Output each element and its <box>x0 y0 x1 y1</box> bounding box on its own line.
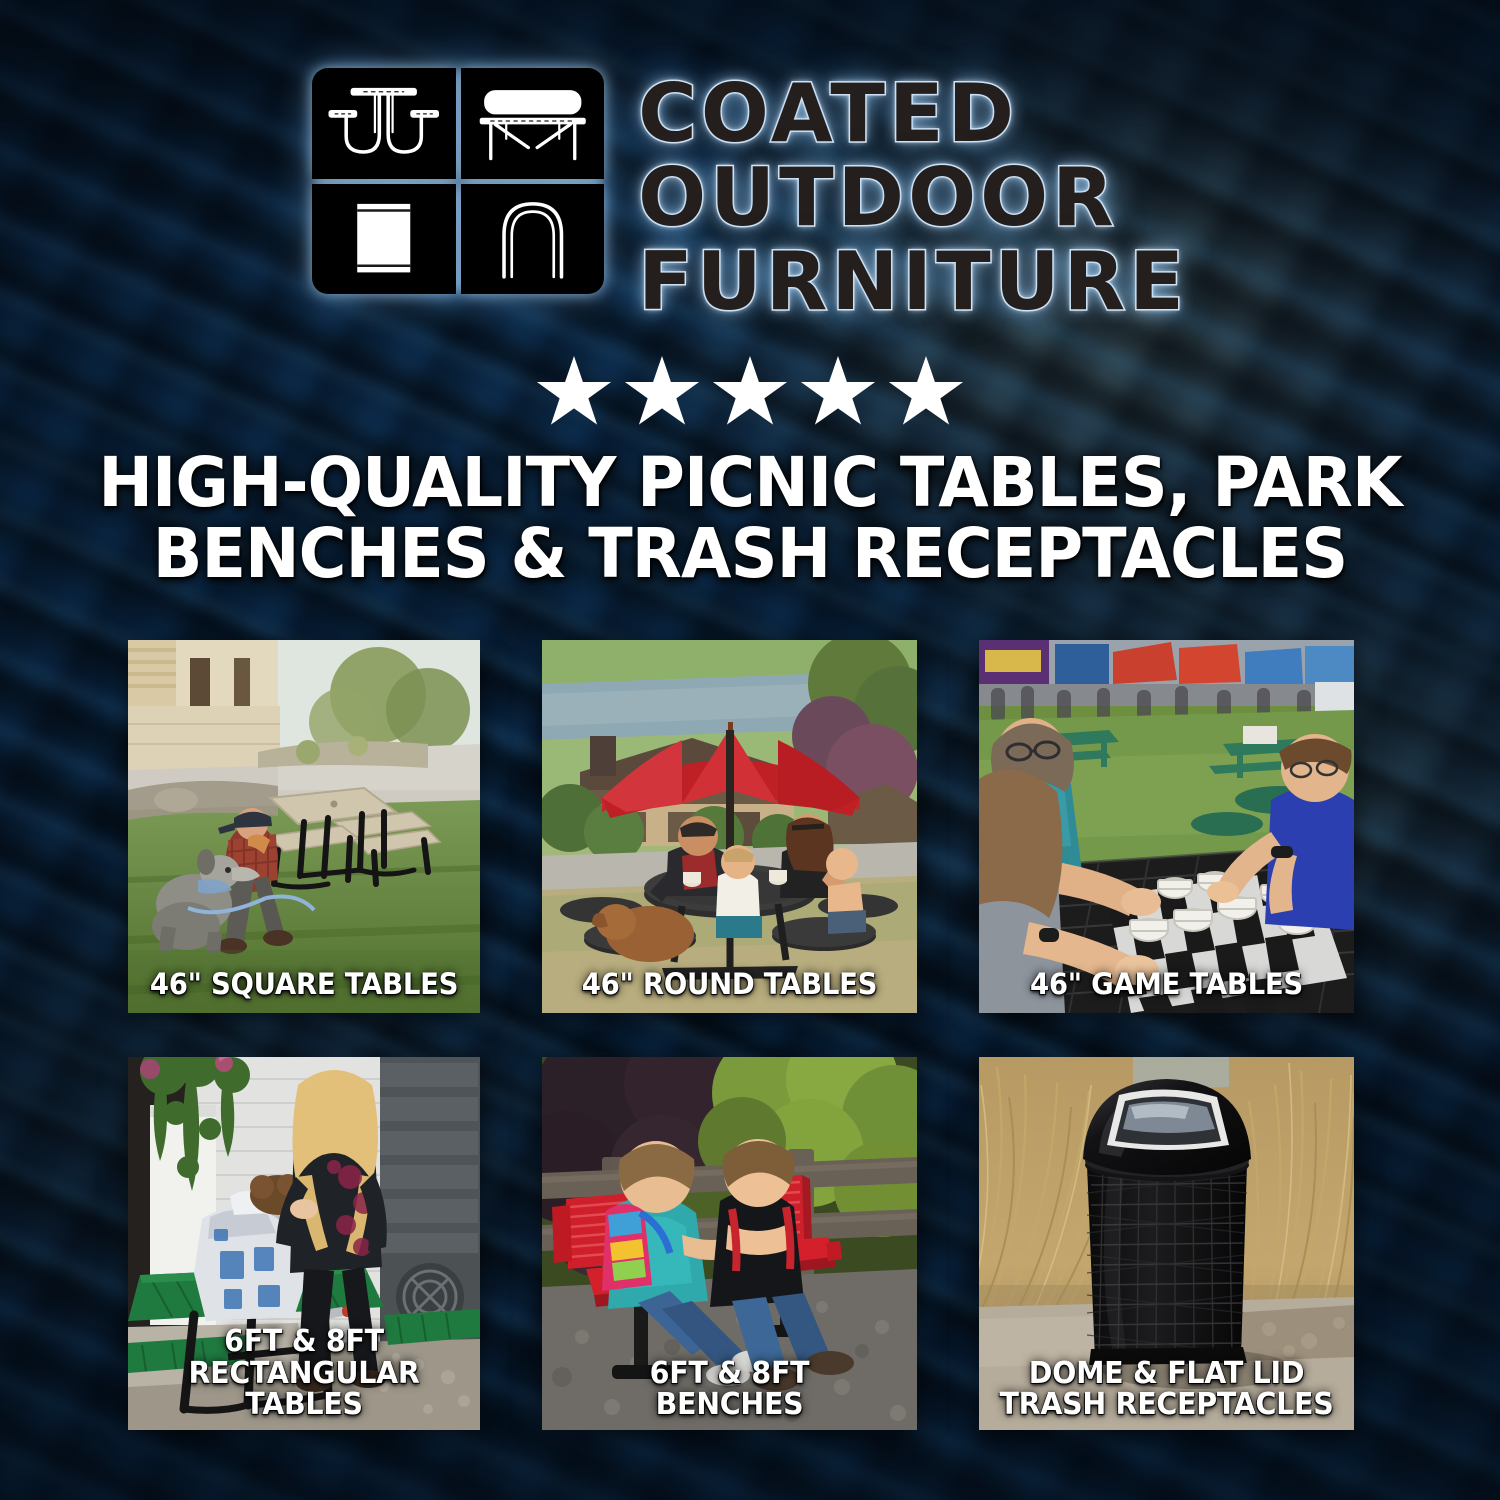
star-icon <box>888 356 964 430</box>
product-tile-label: 6FT & 8FT RECTANGULAR TABLES <box>137 1326 471 1420</box>
brand-word-2: OUTDOOR <box>638 158 1188 237</box>
brand-logo: COATED OUTDOOR FURNITURE <box>0 68 1500 327</box>
product-tile-round-tables[interactable]: 46" ROUND TABLES <box>542 640 917 1013</box>
square-tables-photo <box>128 640 480 1013</box>
brand-wordmark: COATED OUTDOOR FURNITURE <box>638 68 1188 327</box>
park-bench-icon <box>461 68 605 179</box>
product-tile-square-tables[interactable]: 46" SQUARE TABLES <box>128 640 480 1013</box>
game-tables-photo <box>979 640 1354 1013</box>
product-tile-benches[interactable]: 6FT & 8FT BENCHES <box>542 1057 917 1430</box>
headline-line-2: BENCHES & TRASH RECEPTACLES <box>89 519 1412 590</box>
star-rating <box>0 356 1500 430</box>
product-grid: 46" SQUARE TABLES <box>128 640 1374 1430</box>
bike-rack-arch-icon <box>461 184 605 295</box>
star-icon <box>536 356 612 430</box>
brand-word-3: FURNITURE <box>638 242 1188 321</box>
product-tile-label: 46" GAME TABLES <box>988 969 1344 999</box>
product-tile-label: DOME & FLAT LID TRASH RECEPTACLES <box>988 1358 1344 1420</box>
headline: HIGH-QUALITY PICNIC TABLES, PARK BENCHES… <box>89 448 1412 590</box>
star-icon <box>712 356 788 430</box>
product-tile-rectangular-tables[interactable]: 6FT & 8FT RECTANGULAR TABLES <box>128 1057 480 1430</box>
product-tile-label: 6FT & 8FT BENCHES <box>551 1358 907 1420</box>
headline-line-1: HIGH-QUALITY PICNIC TABLES, PARK <box>89 448 1412 519</box>
star-icon <box>624 356 700 430</box>
logo-icon-grid <box>312 68 604 294</box>
round-tables-photo <box>542 640 917 1013</box>
product-tile-trash-receptacles[interactable]: DOME & FLAT LID TRASH RECEPTACLES <box>979 1057 1354 1430</box>
product-tile-label: 46" SQUARE TABLES <box>137 969 471 999</box>
picnic-table-icon <box>312 68 456 179</box>
trash-receptacle-icon <box>312 184 456 295</box>
star-icon <box>800 356 876 430</box>
product-tile-game-tables[interactable]: 46" GAME TABLES <box>979 640 1354 1013</box>
promo-banner: COATED OUTDOOR FURNITURE HIGH-QUALITY PI… <box>0 0 1500 1500</box>
product-tile-label: 46" ROUND TABLES <box>551 969 907 999</box>
brand-word-1: COATED <box>638 74 1188 153</box>
